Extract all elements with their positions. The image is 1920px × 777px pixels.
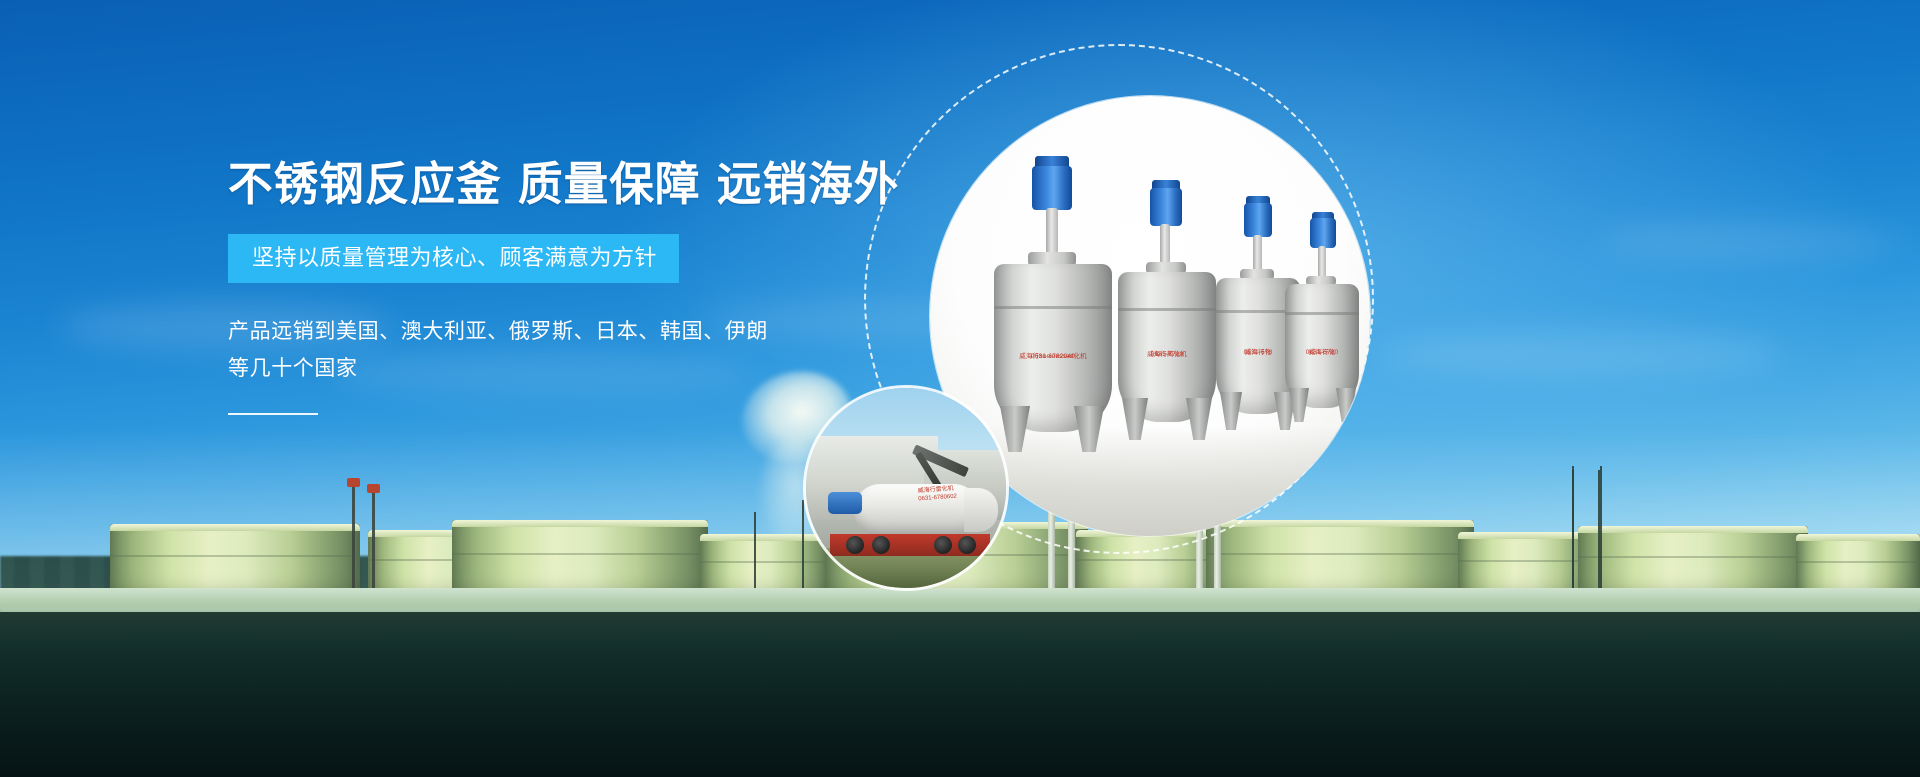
cloud-icon bbox=[1600, 220, 1900, 264]
banner-copy: 不锈钢反应釜 质量保障 远销海外 坚持以质量管理为核心、顾客满意为方针 产品远销… bbox=[228, 158, 868, 415]
banner-description: 产品远销到美国、澳大利亚、俄罗斯、日本、韩国、伊朗 等几十个国家 bbox=[228, 313, 768, 387]
reactor-label-line2: 0631-6780 bbox=[1288, 348, 1356, 356]
factory-photo-circle: 威海行雷化机 0631-6780602 bbox=[806, 388, 1006, 588]
mixer-tank-head bbox=[964, 488, 998, 532]
reactor-vessel: 威海行简化机 0631-6780 bbox=[1112, 180, 1222, 452]
transmission-pylon bbox=[1600, 466, 1602, 602]
mixer-motor bbox=[828, 492, 862, 514]
red-light-tower bbox=[352, 486, 355, 602]
reactor-vessel: 威海行化 0631-6780 bbox=[1282, 212, 1368, 448]
banner-subtitle-bar: 坚持以质量管理为核心、顾客满意为方针 bbox=[228, 234, 679, 283]
cloud-icon bbox=[1380, 330, 1780, 378]
hero-banner: 威海行businessed化机 0631-6782040 威海行简化机 0631… bbox=[0, 0, 1920, 777]
reactor-label-line2: 0631-6782040 bbox=[999, 352, 1108, 360]
decorative-rule bbox=[228, 413, 318, 415]
reactor-vessel: 威海行businessed化机 0631-6782040 bbox=[988, 156, 1118, 456]
pylon-bracing bbox=[1572, 470, 1600, 598]
banner-description-line1: 产品远销到美国、澳大利亚、俄罗斯、日本、韩国、伊朗 bbox=[228, 313, 768, 350]
banner-description-line2: 等几十个国家 bbox=[228, 350, 768, 387]
red-light-tower bbox=[372, 492, 375, 602]
reactor-label-line2: 0631-6780 bbox=[1122, 350, 1212, 358]
utility-pole bbox=[802, 500, 804, 602]
factory-tank-label: 威海行雷化机 0631-6780602 bbox=[917, 485, 957, 504]
transport-truck bbox=[830, 534, 990, 556]
circle-connector bbox=[960, 530, 1290, 532]
water bbox=[0, 612, 1920, 777]
banner-headline: 不锈钢反应釜 质量保障 远销海外 bbox=[228, 158, 849, 210]
